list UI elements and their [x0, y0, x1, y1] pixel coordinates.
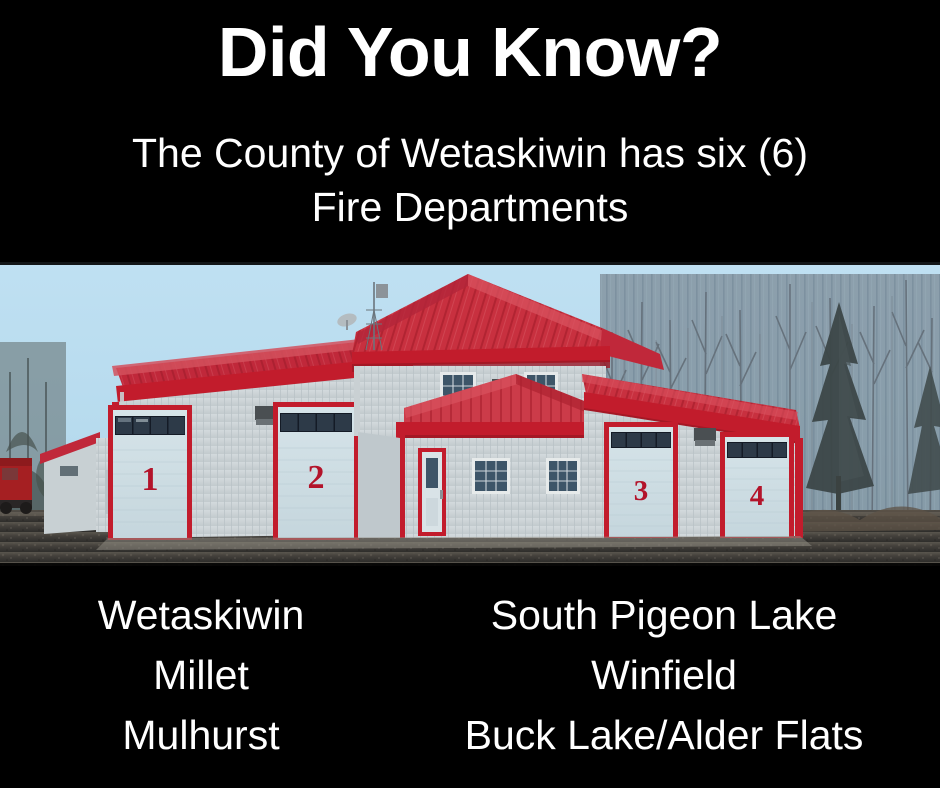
bay-door-1-number: 1	[142, 461, 159, 498]
department-wetaskiwin: Wetaskiwin	[20, 586, 382, 646]
antenna-box	[376, 284, 388, 298]
top-text-band: Did You Know? The County of Wetaskiwin h…	[0, 0, 940, 262]
bay-door-3: 3	[604, 422, 678, 538]
bay-door-2-number: 2	[308, 459, 325, 496]
tower-return-wall	[358, 432, 400, 538]
bay-door-1: 1	[108, 405, 192, 540]
bay-door-3-number: 3	[634, 475, 649, 507]
subtitle-block: The County of Wetaskiwin has six (6) Fir…	[0, 126, 940, 234]
bay-door-4-number: 4	[750, 480, 765, 512]
fire-hall-illustration: 1	[0, 262, 940, 566]
fire-hall-photo: 1	[0, 262, 940, 566]
wall-light-right	[694, 428, 716, 446]
bay-door-2: 2	[273, 402, 359, 540]
fire-truck	[0, 458, 32, 514]
entry-door	[418, 448, 446, 536]
did-you-know-poster: Did You Know? The County of Wetaskiwin h…	[0, 0, 940, 788]
bay-door-4: 4	[720, 432, 794, 538]
subtitle-line-1: The County of Wetaskiwin has six (6)	[0, 126, 940, 180]
entry-window-2	[546, 458, 580, 494]
department-buck-lake-alder-flats: Buck Lake/Alder Flats	[400, 706, 928, 766]
bottom-text-band: Wetaskiwin Millet Mulhurst South Pigeon …	[0, 566, 940, 788]
department-mulhurst: Mulhurst	[20, 706, 382, 766]
subtitle-line-2: Fire Departments	[0, 180, 940, 234]
department-winfield: Winfield	[400, 646, 928, 706]
department-list-right: South Pigeon Lake Winfield Buck Lake/Ald…	[400, 586, 928, 766]
entry-window-1	[472, 458, 510, 494]
department-list-left: Wetaskiwin Millet Mulhurst	[20, 586, 382, 766]
department-millet: Millet	[20, 646, 382, 706]
department-south-pigeon-lake: South Pigeon Lake	[400, 586, 928, 646]
page-title: Did You Know?	[0, 16, 940, 90]
